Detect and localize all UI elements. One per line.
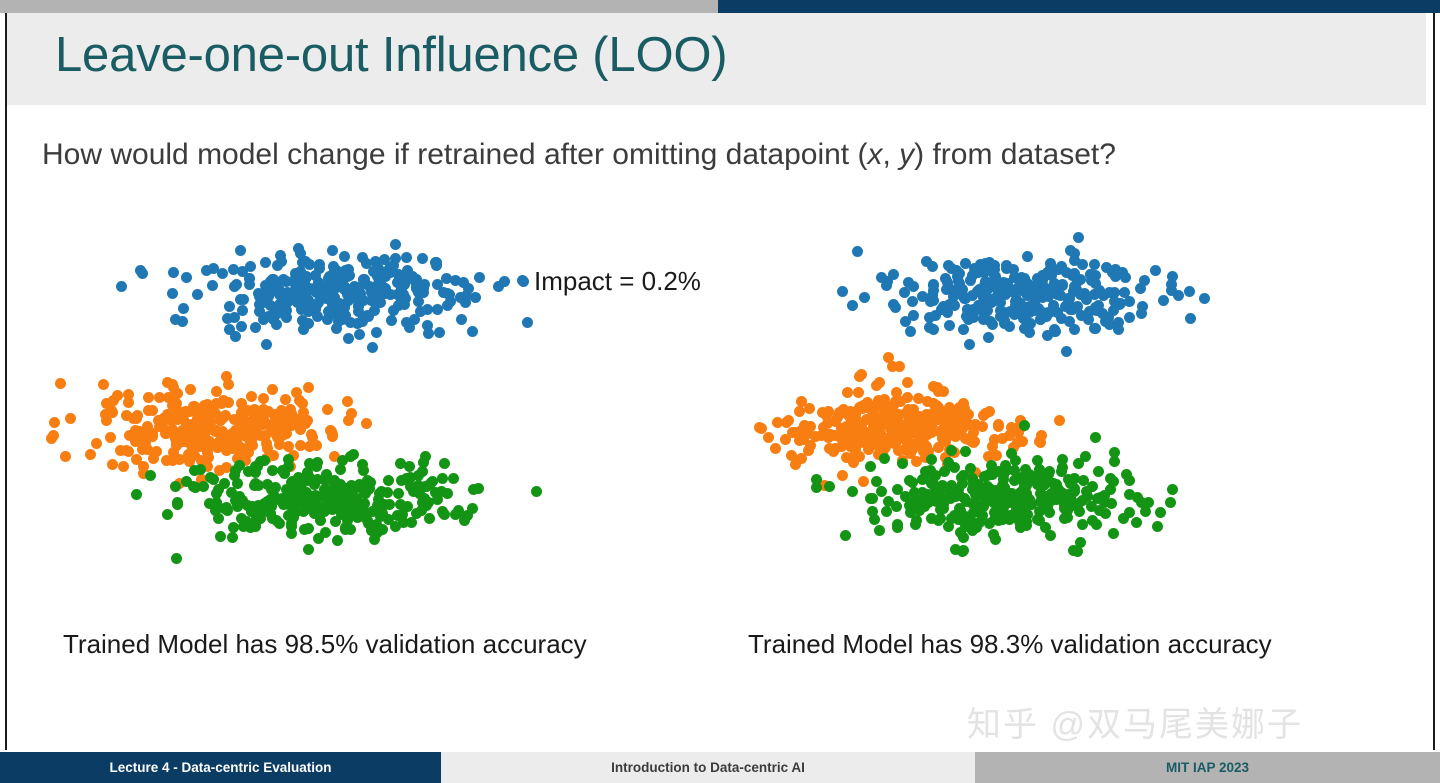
scatter-point xyxy=(1090,432,1101,443)
scatter-point xyxy=(309,479,320,490)
scatter-point xyxy=(1098,290,1109,301)
scatter-point xyxy=(1073,232,1084,243)
scatter-point xyxy=(842,387,853,398)
scatter-point xyxy=(1090,278,1101,289)
scatter-point xyxy=(874,415,885,426)
scatter-point xyxy=(147,431,158,442)
scatter-point xyxy=(218,412,229,423)
scatter-point xyxy=(865,461,876,472)
scatter-point xyxy=(939,466,950,477)
scatter-point xyxy=(303,318,314,329)
scatter-point xyxy=(281,312,292,323)
scatter-point xyxy=(85,449,96,460)
scatter-point xyxy=(1131,517,1142,528)
scatter-point xyxy=(105,432,116,443)
scatter-point xyxy=(943,260,954,271)
scatter-point xyxy=(905,326,916,337)
scatter-point xyxy=(437,473,448,484)
scatter-point xyxy=(331,323,342,334)
scatter-point xyxy=(60,451,71,462)
scatter-point xyxy=(167,288,178,299)
scatter-point xyxy=(1167,484,1178,495)
scatter-point xyxy=(250,322,261,333)
scatter-point xyxy=(883,352,894,363)
scatter-point xyxy=(921,409,932,420)
scatter-point xyxy=(1024,287,1035,298)
scatter-point xyxy=(327,504,338,515)
scatter-point xyxy=(930,310,941,321)
scatter-point xyxy=(393,488,404,499)
scatter-point xyxy=(892,519,903,530)
scatter-point xyxy=(522,317,533,328)
scatter-point xyxy=(245,261,256,272)
scatter-point xyxy=(223,397,234,408)
scatter-point xyxy=(1048,300,1059,311)
scatter-point xyxy=(250,467,261,478)
question-variable-y: y xyxy=(899,138,914,171)
scatter-point xyxy=(208,474,219,485)
question-variable-x: x xyxy=(867,138,882,171)
scatter-point xyxy=(873,428,884,439)
scatter-point xyxy=(1010,455,1021,466)
scatter-point xyxy=(1079,288,1090,299)
scatter-point xyxy=(839,427,850,438)
scatter-point xyxy=(247,440,258,451)
scatter-point xyxy=(990,271,1001,282)
scatter-point xyxy=(932,382,943,393)
scatter-point xyxy=(444,289,455,300)
scatter-point xyxy=(893,409,904,420)
scatter-point xyxy=(406,517,417,528)
scatter-point xyxy=(960,511,971,522)
scatter-point xyxy=(135,265,146,276)
caption-left: Trained Model has 98.5% validation accur… xyxy=(63,629,587,660)
scatter-point xyxy=(1150,265,1161,276)
scatter-point xyxy=(1093,466,1104,477)
scatter-point xyxy=(439,458,450,469)
scatter-point xyxy=(1089,323,1100,334)
scatter-point xyxy=(283,461,294,472)
scatter-point xyxy=(371,327,382,338)
scatter-point xyxy=(242,500,253,511)
scatter-point xyxy=(359,274,370,285)
scatter-point xyxy=(1119,287,1130,298)
scatter-point xyxy=(915,495,926,506)
scatter-point xyxy=(334,267,345,278)
scatter-point xyxy=(118,461,129,472)
scatter-point xyxy=(251,420,262,431)
question-line: How would model change if retrained afte… xyxy=(42,138,1116,172)
scatter-point xyxy=(856,369,867,380)
scatter-point xyxy=(219,503,230,514)
scatter-point xyxy=(869,514,880,525)
scatter-point xyxy=(383,475,394,486)
scatter-point xyxy=(933,515,944,526)
scatter-point xyxy=(847,486,858,497)
scatter-point xyxy=(780,434,791,445)
scatter-point xyxy=(938,301,949,312)
scatter-point xyxy=(361,418,372,429)
scatter-point xyxy=(358,511,369,522)
scatter-point xyxy=(327,431,338,442)
scatter-point xyxy=(958,324,969,335)
scatter-point xyxy=(1061,346,1072,357)
scatter-point xyxy=(244,279,255,290)
scatter-point xyxy=(116,281,127,292)
scatter-point xyxy=(783,415,794,426)
scatter-point xyxy=(430,257,441,268)
scatter-point xyxy=(879,453,890,464)
scatter-point xyxy=(198,421,209,432)
scatter-point xyxy=(876,486,887,497)
scatter-point xyxy=(235,245,246,256)
scatter-point xyxy=(1124,312,1135,323)
scatter-point xyxy=(171,553,182,564)
scatter-point xyxy=(178,303,189,314)
scatter-point xyxy=(386,315,397,326)
slide-canvas: Leave-one-out Influence (LOO) How would … xyxy=(0,0,1440,783)
impact-marker-dot xyxy=(517,275,528,286)
scatter-point xyxy=(1015,298,1026,309)
scatter-point xyxy=(439,509,450,520)
scatter-point xyxy=(1044,466,1055,477)
scatter-point xyxy=(315,515,326,526)
scatter-point xyxy=(65,413,76,424)
scatter-point xyxy=(756,423,767,434)
scatter-point xyxy=(847,300,858,311)
scatter-point xyxy=(261,339,272,350)
scatter-point xyxy=(373,494,384,505)
scatter-plot-left xyxy=(45,205,665,585)
scatter-point xyxy=(402,501,413,512)
scatter-point xyxy=(892,484,903,495)
scatter-point xyxy=(237,305,248,316)
page-title: Leave-one-out Influence (LOO) xyxy=(55,27,727,83)
scatter-point xyxy=(965,463,976,474)
scatter-point xyxy=(964,339,975,350)
scatter-point xyxy=(268,484,279,495)
scatter-point xyxy=(904,440,915,451)
scatter-point xyxy=(874,377,885,388)
scatter-point xyxy=(364,483,375,494)
left-scatter-panel xyxy=(45,205,665,585)
scatter-point xyxy=(192,289,203,300)
scatter-point xyxy=(1166,279,1177,290)
scatter-point xyxy=(232,478,243,489)
scatter-point xyxy=(989,434,1000,445)
scatter-point xyxy=(339,251,350,262)
scatter-point xyxy=(396,475,407,486)
scatter-point xyxy=(1068,286,1079,297)
scatter-point xyxy=(837,470,848,481)
scatter-point xyxy=(1136,308,1147,319)
scatter-point xyxy=(213,513,224,524)
scatter-point xyxy=(367,342,378,353)
impact-annotation: Impact = 0.2% xyxy=(534,266,701,297)
top-accent-bar xyxy=(0,0,1440,13)
scatter-point xyxy=(456,314,467,325)
scatter-point xyxy=(1009,309,1020,320)
scatter-point xyxy=(107,459,118,470)
scatter-point xyxy=(854,451,865,462)
slide-frame-left-border xyxy=(5,13,7,750)
scatter-point xyxy=(1155,507,1166,518)
scatter-point xyxy=(960,446,971,457)
scatter-point xyxy=(432,279,443,290)
scatter-point xyxy=(499,276,510,287)
scatter-point xyxy=(185,384,196,395)
scatter-point xyxy=(1108,476,1119,487)
scatter-point xyxy=(419,279,430,290)
scatter-point xyxy=(288,512,299,523)
slide-frame-right-border xyxy=(1433,13,1435,750)
scatter-point xyxy=(418,457,429,468)
scatter-point xyxy=(1004,321,1015,332)
scatter-point xyxy=(531,486,542,497)
scatter-point xyxy=(1165,497,1176,508)
scatter-point xyxy=(145,470,156,481)
scatter-point xyxy=(177,316,188,327)
scatter-point xyxy=(897,458,908,469)
scatter-point xyxy=(274,439,285,450)
scatter-point xyxy=(162,509,173,520)
scatter-plot-right xyxy=(730,205,1350,585)
scatter-point xyxy=(1019,420,1030,431)
scatter-point xyxy=(1077,259,1088,270)
scatter-point xyxy=(229,281,240,292)
scatter-point xyxy=(1185,313,1196,324)
scatter-point xyxy=(998,470,1009,481)
scatter-point xyxy=(168,267,179,278)
scatter-point xyxy=(1074,506,1085,517)
scatter-point xyxy=(474,272,485,283)
scatter-point xyxy=(873,395,884,406)
scatter-point xyxy=(432,494,443,505)
scatter-point xyxy=(217,268,228,279)
scatter-point xyxy=(1036,307,1047,318)
scatter-point xyxy=(211,488,222,499)
scatter-point xyxy=(46,433,57,444)
top-accent-bar-navy xyxy=(718,0,1440,13)
scatter-point xyxy=(227,532,238,543)
scatter-point xyxy=(132,410,143,421)
scatter-point xyxy=(424,513,435,524)
scatter-point xyxy=(1077,519,1088,530)
scatter-point xyxy=(467,326,478,337)
scatter-point xyxy=(329,292,340,303)
scatter-point xyxy=(1082,491,1093,502)
scatter-point xyxy=(796,425,807,436)
scatter-point xyxy=(143,392,154,403)
scatter-point xyxy=(1092,493,1103,504)
scatter-point xyxy=(908,281,919,292)
scatter-point xyxy=(926,454,937,465)
scatter-point xyxy=(853,387,864,398)
scatter-point xyxy=(1032,514,1043,525)
scatter-point xyxy=(224,324,235,335)
scatter-point xyxy=(840,530,851,541)
scatter-point xyxy=(172,414,183,425)
scatter-point xyxy=(989,260,1000,271)
scatter-point xyxy=(227,428,238,439)
scatter-point xyxy=(309,493,320,504)
scatter-point xyxy=(267,465,278,476)
scatter-point xyxy=(181,272,192,283)
scatter-point xyxy=(345,451,356,462)
scatter-point xyxy=(983,332,994,343)
scatter-point xyxy=(893,445,904,456)
scatter-point xyxy=(131,454,142,465)
scatter-point xyxy=(993,421,1004,432)
scatter-point xyxy=(1158,295,1169,306)
scatter-point xyxy=(1018,502,1029,513)
scatter-point xyxy=(167,455,178,466)
scatter-point xyxy=(998,311,1009,322)
scatter-point xyxy=(943,521,954,532)
scatter-point xyxy=(224,301,235,312)
scatter-point xyxy=(312,457,323,468)
question-comma: , xyxy=(882,138,899,171)
scatter-point xyxy=(842,438,853,449)
scatter-point xyxy=(907,296,918,307)
scatter-point xyxy=(1065,492,1076,503)
scatter-point xyxy=(385,289,396,300)
scatter-point xyxy=(91,438,102,449)
scatter-point xyxy=(1057,462,1068,473)
scatter-point xyxy=(271,410,282,421)
scatter-point xyxy=(246,391,257,402)
scatter-point xyxy=(984,518,995,529)
question-prefix: How would model change if retrained afte… xyxy=(42,138,867,171)
scatter-point xyxy=(900,316,911,327)
scatter-point xyxy=(1080,451,1091,462)
scatter-point xyxy=(859,292,870,303)
scatter-point xyxy=(340,522,351,533)
scatter-point xyxy=(335,464,346,475)
scatter-point xyxy=(195,464,206,475)
scatter-point xyxy=(344,270,355,281)
scatter-point xyxy=(902,377,913,388)
scatter-point xyxy=(263,311,274,322)
scatter-point xyxy=(330,516,341,527)
scatter-point xyxy=(1038,480,1049,491)
scatter-point xyxy=(926,427,937,438)
scatter-point xyxy=(858,476,869,487)
scatter-point xyxy=(390,253,401,264)
scatter-point xyxy=(434,327,445,338)
scatter-point xyxy=(442,300,453,311)
scatter-point xyxy=(1045,530,1056,541)
scatter-point xyxy=(260,257,271,268)
scatter-point xyxy=(888,269,899,280)
right-scatter-panel xyxy=(730,205,1350,585)
scatter-point xyxy=(320,527,331,538)
scatter-point xyxy=(313,297,324,308)
scatter-point xyxy=(343,415,354,426)
scatter-point xyxy=(1049,324,1060,335)
scatter-point xyxy=(342,396,353,407)
scatter-point xyxy=(334,303,345,314)
scatter-point xyxy=(98,379,109,390)
scatter-point xyxy=(971,502,982,513)
scatter-point xyxy=(293,286,304,297)
scatter-point xyxy=(354,329,365,340)
scatter-point xyxy=(272,260,283,271)
scatter-point xyxy=(1001,260,1012,271)
scatter-point xyxy=(991,485,1002,496)
scatter-point xyxy=(301,272,312,283)
question-suffix: ) from dataset? xyxy=(914,138,1116,171)
scatter-point xyxy=(1110,271,1121,282)
scatter-point xyxy=(448,473,459,484)
scatter-point xyxy=(1199,293,1210,304)
top-accent-bar-gray xyxy=(0,0,718,13)
scatter-point xyxy=(422,304,433,315)
scatter-point xyxy=(874,525,885,536)
scatter-point xyxy=(236,321,247,332)
scatter-point xyxy=(837,286,848,297)
scatter-point xyxy=(327,245,338,256)
scatter-point xyxy=(969,263,980,274)
scatter-point xyxy=(944,320,955,331)
scatter-point xyxy=(414,488,425,499)
scatter-point xyxy=(390,239,401,250)
scatter-point xyxy=(258,297,269,308)
scatter-point xyxy=(332,535,343,546)
scatter-point xyxy=(1065,478,1076,489)
scatter-point xyxy=(250,478,261,489)
scatter-point xyxy=(190,482,201,493)
scatter-point xyxy=(207,280,218,291)
footer-lecture: Lecture 4 - Data-centric Evaluation xyxy=(0,752,441,783)
scatter-point xyxy=(881,506,892,517)
scatter-point xyxy=(267,384,278,395)
scatter-point xyxy=(926,491,937,502)
scatter-point xyxy=(917,474,928,485)
scatter-point xyxy=(811,482,822,493)
footer-course: Introduction to Data-centric AI xyxy=(441,752,975,783)
scatter-point xyxy=(881,280,892,291)
watermark: 知乎 @双马尾美娜子 xyxy=(967,697,1303,746)
slide-footer: Lecture 4 - Data-centric Evaluation Intr… xyxy=(0,752,1440,783)
scatter-point xyxy=(170,481,181,492)
scatter-point xyxy=(204,498,215,509)
scatter-point xyxy=(1089,259,1100,270)
scatter-point xyxy=(121,410,132,421)
scatter-point xyxy=(1022,251,1033,262)
scatter-point xyxy=(442,488,453,499)
scatter-point xyxy=(924,322,935,333)
scatter-point xyxy=(215,531,226,542)
scatter-point xyxy=(1108,528,1119,539)
scatter-point xyxy=(1184,286,1195,297)
scatter-point xyxy=(168,391,179,402)
scatter-point xyxy=(131,489,142,500)
scatter-point xyxy=(916,440,927,451)
scatter-point xyxy=(1114,299,1125,310)
scatter-point xyxy=(852,246,863,257)
scatter-point xyxy=(289,415,300,426)
scatter-point xyxy=(303,382,314,393)
scatter-point xyxy=(199,400,210,411)
scatter-point xyxy=(911,515,922,526)
scatter-point xyxy=(343,333,354,344)
scatter-point xyxy=(1004,430,1015,441)
scatter-point xyxy=(241,430,252,441)
scatter-point xyxy=(314,263,325,274)
scatter-point xyxy=(288,482,299,493)
scatter-point xyxy=(965,275,976,286)
